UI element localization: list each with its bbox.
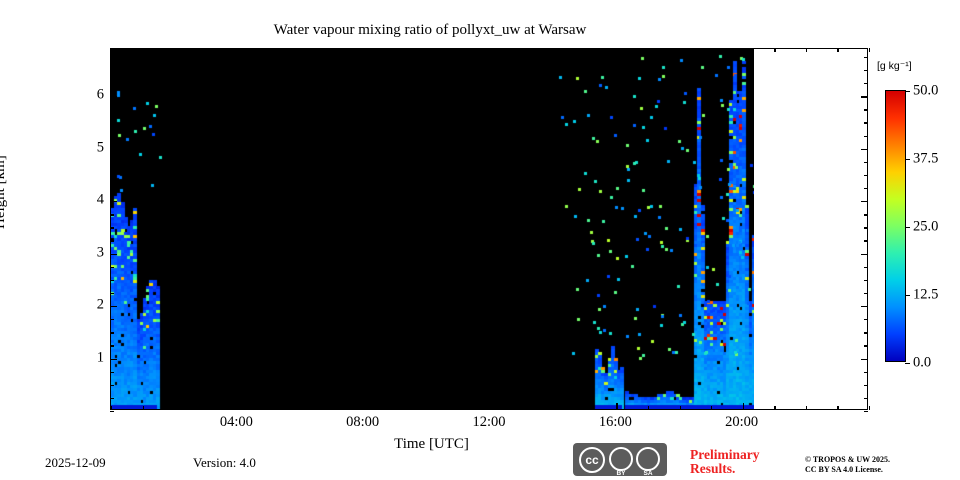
x-axis-tick (332, 406, 333, 410)
x-axis-tick-top (364, 48, 365, 55)
x-axis-tick-label: 20:00 (725, 414, 758, 431)
x-axis-tick (143, 406, 144, 410)
x-axis-tick-top (806, 48, 807, 52)
y-axis-tick-right (864, 267, 868, 268)
y-axis-tick-right (864, 122, 868, 123)
y-axis-tick-right (864, 57, 868, 58)
x-axis-tick (743, 403, 744, 410)
copyright-notice: © TROPOS & UW 2025. CC BY SA 4.0 License… (805, 455, 890, 475)
y-axis-tick-right (864, 188, 868, 189)
colorbar-tick-label: 37.5 (913, 151, 938, 168)
plot-area (110, 48, 868, 410)
y-axis-tick (110, 175, 114, 176)
y-axis-tick-right (864, 214, 868, 215)
colorbar-tick-label: 50.0 (913, 83, 938, 100)
y-axis-tick (110, 332, 114, 333)
preliminary-line-2: Results. (690, 462, 759, 476)
y-axis-tick-right (861, 254, 868, 255)
colorbar-tick-label: 0.0 (913, 355, 931, 372)
cc-logo-label: cc (579, 447, 605, 473)
y-axis-tick-right (864, 398, 868, 399)
y-axis-tick-right (861, 306, 868, 307)
y-axis-tick (110, 240, 114, 241)
x-axis-tick (206, 406, 207, 410)
y-axis-tick-right (864, 345, 868, 346)
y-axis-tick-right (864, 136, 868, 137)
y-axis-tick (110, 359, 117, 360)
y-axis-tick (110, 136, 114, 137)
y-axis-tick-right (864, 385, 868, 386)
x-axis-tick-top (332, 48, 333, 52)
x-axis-tick (774, 406, 775, 410)
x-axis-tick-top (301, 48, 302, 52)
x-axis-tick-top (869, 48, 870, 52)
copyright-line-1: © TROPOS & UW 2025. (805, 455, 890, 465)
x-axis-tick-label: 08:00 (346, 414, 379, 431)
y-axis-tick (110, 57, 114, 58)
x-axis-tick (174, 406, 175, 410)
y-axis-tick (110, 214, 114, 215)
y-axis-tick (110, 280, 114, 281)
y-axis-tick (110, 306, 117, 307)
y-axis-tick-right (861, 359, 868, 360)
footer-version: Version: 4.0 (193, 455, 256, 471)
x-axis-tick-top (522, 48, 523, 52)
x-axis-tick-top (743, 48, 744, 55)
y-axis-tick-right (861, 96, 868, 97)
x-axis-tick (364, 403, 365, 410)
colorbar-tick (905, 91, 910, 92)
cc-by-person-icon (609, 447, 633, 471)
quicklook-figure: Water vapour mixing ratio of pollyxt_uw … (0, 0, 960, 480)
x-axis-tick-top (395, 48, 396, 52)
x-axis-tick-top (616, 48, 617, 55)
y-axis-tick (110, 411, 114, 412)
x-axis-tick-top (143, 48, 144, 52)
colorbar-tick (905, 363, 910, 364)
y-axis-tick-label: 1 (86, 349, 104, 366)
y-axis-tick-right (864, 332, 868, 333)
footer-date: 2025-12-09 (45, 455, 106, 471)
colorbar-units-label: [g kg⁻¹] (877, 60, 912, 72)
cc-sa-label: SA (636, 470, 660, 477)
x-axis-tick (711, 406, 712, 410)
x-axis-tick-top (837, 48, 838, 52)
y-axis-tick-right (864, 319, 868, 320)
x-axis-tick (458, 406, 459, 410)
x-axis-tick (301, 406, 302, 410)
x-axis-tick-top (174, 48, 175, 52)
y-axis-tick-right (864, 293, 868, 294)
page-title: Water vapour mixing ratio of pollyxt_uw … (110, 22, 750, 39)
x-axis-tick-top (585, 48, 586, 52)
x-axis-tick (837, 406, 838, 410)
preliminary-line-1: Preliminary (690, 448, 759, 462)
y-axis-tick (110, 254, 117, 255)
x-axis-tick (680, 406, 681, 410)
y-axis-tick (110, 70, 114, 71)
y-axis-tick (110, 345, 114, 346)
x-axis-tick-top (237, 48, 238, 55)
y-axis-tick-label: 6 (86, 87, 104, 104)
x-axis-tick-top (490, 48, 491, 55)
y-axis-tick-label: 4 (86, 192, 104, 209)
y-axis-tick (110, 149, 117, 150)
x-axis-tick-top (648, 48, 649, 52)
y-axis-tick (110, 293, 114, 294)
x-axis-tick (395, 406, 396, 410)
x-axis-tick-label: 12:00 (472, 414, 505, 431)
y-axis-tick-right (864, 175, 868, 176)
x-axis-tick (648, 406, 649, 410)
x-axis-tick-top (680, 48, 681, 52)
y-axis-tick-right (864, 70, 868, 71)
x-axis-tick (427, 406, 428, 410)
y-axis-tick-right (864, 280, 868, 281)
creative-commons-badge[interactable]: cc BY SA (573, 443, 667, 476)
y-axis-tick-right (864, 162, 868, 163)
x-axis-tick-top (458, 48, 459, 52)
x-axis-tick-label: 04:00 (220, 414, 253, 431)
x-axis-tick-top (111, 48, 112, 52)
y-axis-tick (110, 385, 114, 386)
x-axis-tick (553, 406, 554, 410)
y-axis-tick (110, 227, 114, 228)
cc-by-label: BY (609, 470, 633, 477)
preliminary-results-notice: Preliminary Results. (690, 448, 759, 476)
cc-sharealike-icon (636, 447, 660, 471)
x-axis-tick (237, 403, 238, 410)
y-axis-tick (110, 372, 114, 373)
x-axis-tick (616, 403, 617, 410)
x-axis-tick-top (206, 48, 207, 52)
x-axis-tick-top (774, 48, 775, 52)
colorbar-tick (905, 227, 910, 228)
colorbar-tick (905, 159, 910, 160)
x-axis-tick (522, 406, 523, 410)
y-axis-tick-right (864, 83, 868, 84)
y-axis-tick-right (864, 240, 868, 241)
x-axis-tick-top (553, 48, 554, 52)
colorbar-tick-label: 25.0 (913, 219, 938, 236)
y-axis-tick-right (861, 201, 868, 202)
x-axis-tick-top (427, 48, 428, 52)
x-axis-tick (111, 406, 112, 410)
y-axis-tick (110, 122, 114, 123)
y-axis-tick (110, 201, 117, 202)
x-axis-tick (490, 403, 491, 410)
copyright-line-2: CC BY SA 4.0 License. (805, 465, 890, 475)
y-axis-tick (110, 267, 114, 268)
x-axis-tick-top (711, 48, 712, 52)
y-axis-tick-right (864, 411, 868, 412)
x-axis-tick-top (269, 48, 270, 52)
y-axis-tick-right (861, 149, 868, 150)
y-axis-title: Height [km] (0, 155, 9, 229)
y-axis-tick (110, 96, 117, 97)
y-axis-tick-right (864, 109, 868, 110)
x-axis-tick-label: 16:00 (599, 414, 632, 431)
x-axis-tick (585, 406, 586, 410)
colorbar: 0.012.525.037.550.0 (885, 90, 906, 362)
y-axis-tick (110, 398, 114, 399)
y-axis-tick-label: 3 (86, 244, 104, 261)
colorbar-tick (905, 295, 910, 296)
y-axis-tick (110, 83, 114, 84)
x-axis-tick (869, 406, 870, 410)
y-axis-tick-label: 5 (86, 139, 104, 156)
colorbar-tick-label: 12.5 (913, 287, 938, 304)
y-axis-tick-right (864, 372, 868, 373)
y-axis-tick-right (864, 227, 868, 228)
y-axis-tick (110, 319, 114, 320)
y-axis-tick-label: 2 (86, 297, 104, 314)
x-axis-tick (269, 406, 270, 410)
y-axis-tick (110, 188, 114, 189)
y-axis-tick (110, 109, 114, 110)
heatmap-data-region (111, 49, 754, 409)
x-axis-tick (806, 406, 807, 410)
y-axis-tick (110, 162, 114, 163)
